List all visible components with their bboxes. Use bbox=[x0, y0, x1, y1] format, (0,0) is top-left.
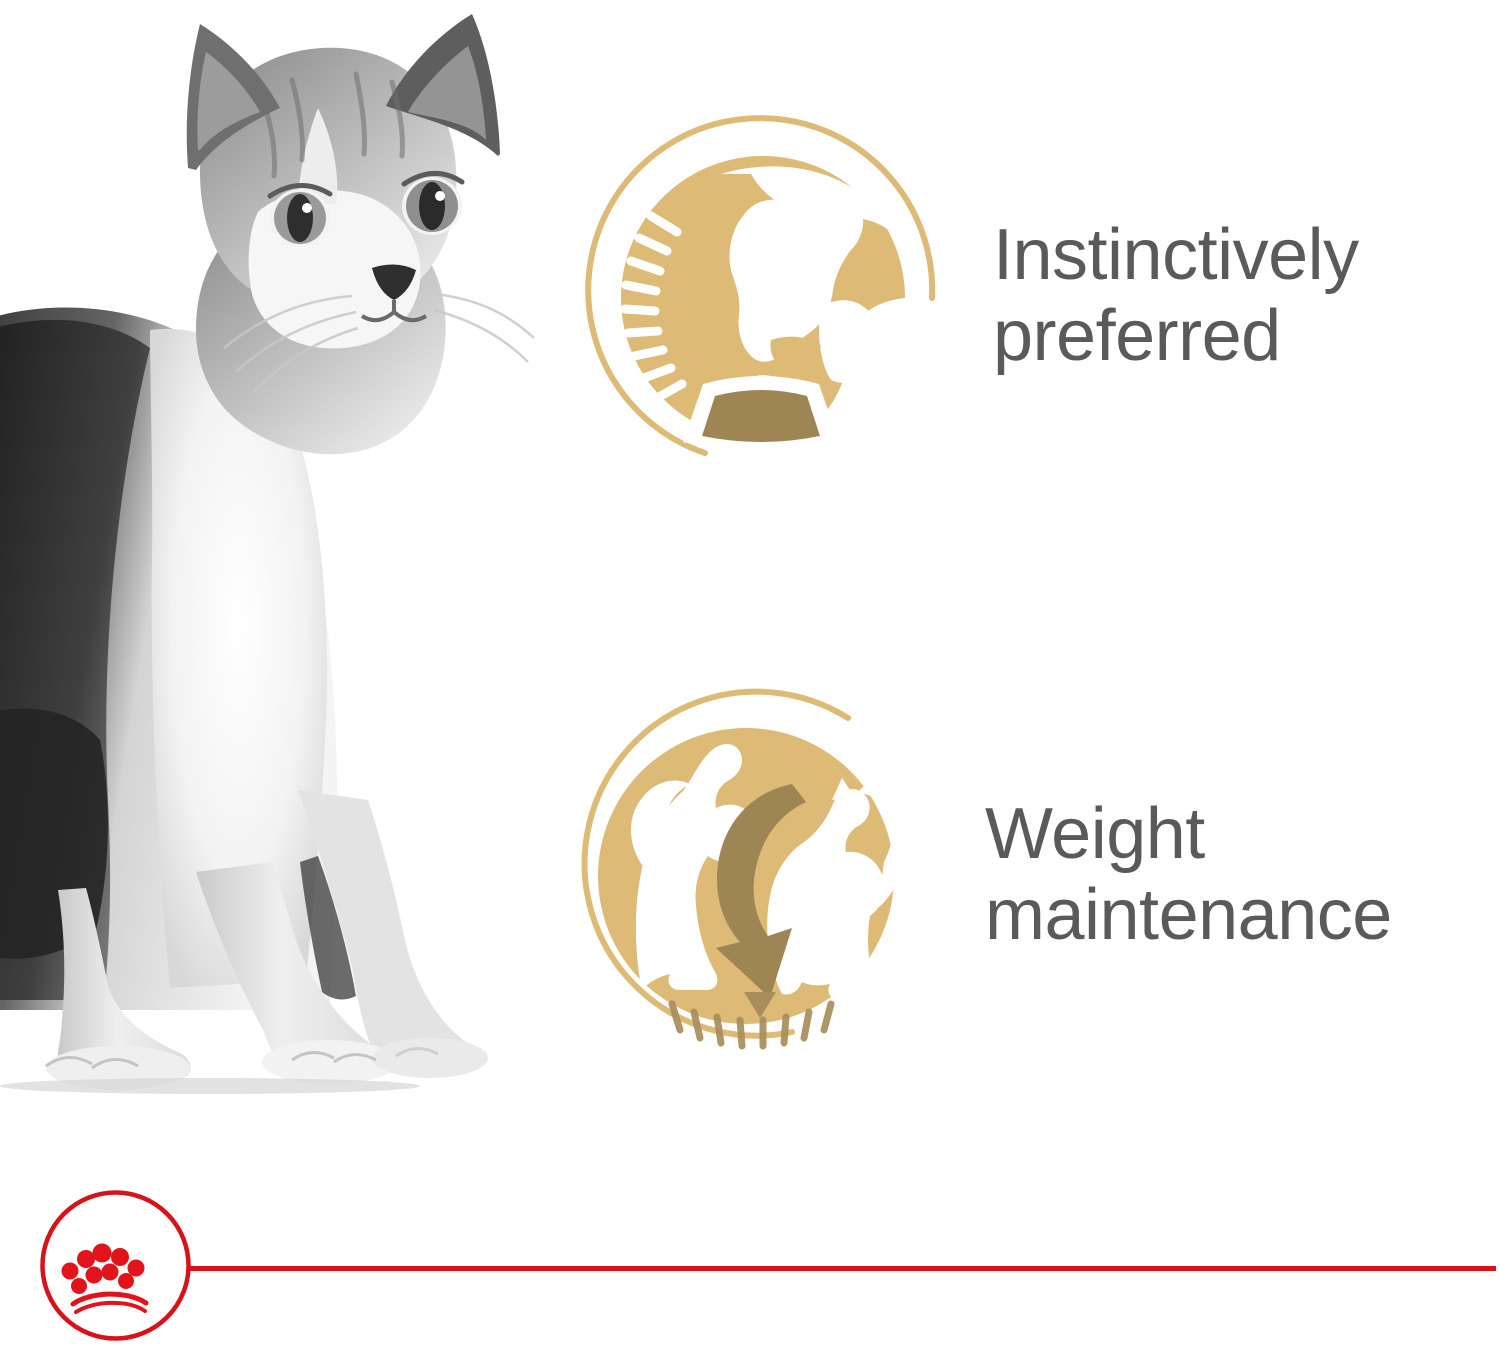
benefit-row-instinctively-preferred: Instinctively preferred bbox=[575, 108, 1500, 483]
benefit-label-weight-maintenance: Weight maintenance bbox=[985, 794, 1500, 955]
weight-maintenance-icon bbox=[548, 680, 943, 1070]
brand-rule-line bbox=[185, 1266, 1496, 1271]
benefit-row-weight-maintenance: Weight maintenance bbox=[548, 680, 1500, 1070]
instinctively-preferred-icon bbox=[575, 108, 945, 483]
product-feature-panel: Instinctively preferred bbox=[0, 0, 1500, 1349]
royal-canin-crown-logo bbox=[38, 1188, 193, 1343]
benefit-label-instinctively-preferred: Instinctively preferred bbox=[993, 215, 1500, 376]
cat-photo bbox=[0, 0, 540, 1120]
brand-footer bbox=[0, 1180, 1500, 1349]
